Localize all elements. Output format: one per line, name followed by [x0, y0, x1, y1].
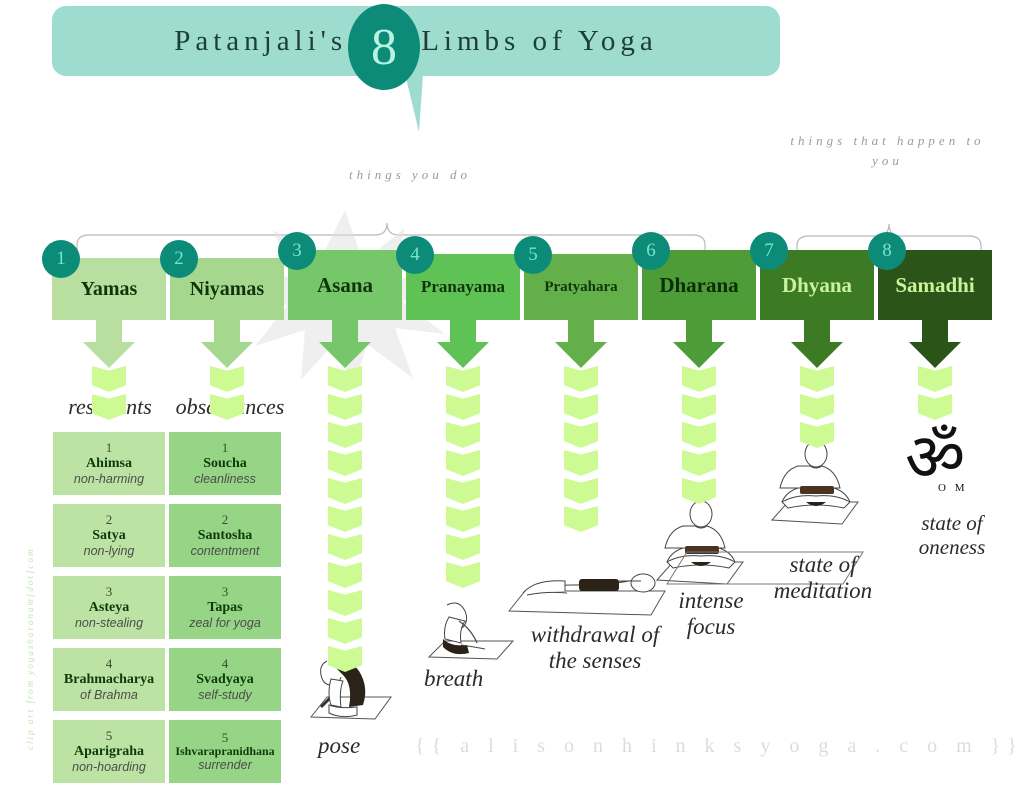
limb-arrow-stem	[332, 320, 358, 342]
sub-card-number: 3	[222, 585, 229, 600]
caption-pranayama: breath	[424, 666, 483, 692]
caption-samadhi: state of oneness	[900, 512, 1004, 559]
sub-card-number: 1	[222, 441, 229, 456]
chevron-segment	[328, 590, 362, 616]
sub-card-description: contentment	[191, 544, 260, 558]
eight-badge: 8	[348, 4, 420, 90]
chevron-segment	[564, 478, 598, 504]
chevron-segment	[210, 366, 244, 392]
limb-number-badge-2: 2	[160, 240, 198, 278]
title-right-text: Limbs of Yoga	[409, 25, 658, 58]
chevron-segment	[682, 450, 716, 476]
sub-card-soucha[interactable]: 1Souchacleanliness	[169, 432, 281, 495]
limb-arrow-stem	[922, 320, 948, 342]
limb-number-badge-4: 4	[396, 236, 434, 274]
infographic-canvas: Patanjali's Limbs of Yoga 8 things you d…	[0, 0, 1035, 800]
limb-number: 7	[764, 240, 774, 262]
chevron-segment	[328, 506, 362, 532]
chevron-segment	[328, 618, 362, 644]
limb-number: 3	[292, 240, 302, 262]
sub-card-asteya[interactable]: 3Asteyanon-stealing	[53, 576, 165, 639]
sub-card-number: 3	[106, 585, 113, 600]
sub-card-number: 4	[222, 657, 229, 672]
sub-card-ahimsa[interactable]: 1Ahimsanon-harming	[53, 432, 165, 495]
sub-card-tapas[interactable]: 3Tapaszeal for yoga	[169, 576, 281, 639]
sub-card-description: self-study	[198, 688, 252, 702]
sub-card-description: cleanliness	[194, 472, 256, 486]
chevron-segment	[682, 366, 716, 392]
chevron-segment	[800, 366, 834, 392]
header-banner-tail	[405, 74, 423, 132]
sub-card-satya[interactable]: 2Satyanon-lying	[53, 504, 165, 567]
limb-arrow-stem	[686, 320, 712, 342]
limb-arrow-head	[909, 342, 961, 368]
sub-card-name: Svadyaya	[196, 672, 254, 688]
om-label: O M	[938, 482, 967, 494]
sub-card-description: of Brahma	[80, 688, 138, 702]
caption-asana: pose	[318, 733, 360, 759]
sub-card-svadyaya[interactable]: 4Svadyayaself-study	[169, 648, 281, 711]
side-watermark: clip art from yogasharanam[dot]com	[25, 570, 35, 750]
sub-card-description: zeal for yoga	[189, 616, 261, 630]
limb-number: 6	[646, 240, 656, 262]
sub-card-name: Tapas	[207, 600, 242, 616]
limb-number-badge-6: 6	[632, 232, 670, 270]
chevron-segment	[564, 366, 598, 392]
sub-card-aparigraha[interactable]: 5Aparigrahanon-hoarding	[53, 720, 165, 783]
bracket-label-right: things that happen to you	[780, 131, 995, 171]
limb-arrow-stem	[214, 320, 240, 342]
chevron-segment	[328, 534, 362, 560]
pranayama-figure-icon	[425, 595, 517, 667]
limb-number: 1	[56, 248, 66, 270]
sub-card-name: Santosha	[198, 528, 252, 544]
sub-card-description: non-hoarding	[72, 760, 146, 774]
sub-card-santosha[interactable]: 2Santoshacontentment	[169, 504, 281, 567]
limb-label: Pranayama	[421, 277, 505, 297]
chevron-segment	[328, 422, 362, 448]
limb-label: Dharana	[659, 273, 738, 298]
limb-label: Asana	[317, 273, 373, 298]
limb-label: Yamas	[81, 278, 138, 301]
eight-badge-number: 8	[371, 18, 397, 77]
chevron-segment	[446, 450, 480, 476]
limb-number-badge-1: 1	[42, 240, 80, 278]
chevron-segment	[800, 394, 834, 420]
sub-card-name: Brahmacharya	[64, 672, 154, 688]
sub-card-name: Asteya	[89, 600, 129, 616]
limb-arrow-head	[555, 342, 607, 368]
limb-number-badge-5: 5	[514, 236, 552, 274]
caption-dharana: intense focus	[668, 588, 754, 640]
chevron-segment	[682, 394, 716, 420]
sub-card-ishvarapranidhana[interactable]: 5Ishvarapranidhanasurrender	[169, 720, 281, 783]
chevron-segment	[328, 394, 362, 420]
chevron-segment	[328, 562, 362, 588]
sub-card-name: Satya	[92, 528, 125, 544]
sub-card-description: non-stealing	[75, 616, 143, 630]
limb-arrow-head	[437, 342, 489, 368]
chevron-segment	[446, 562, 480, 588]
sub-card-number: 2	[106, 513, 113, 528]
limb-arrow-stem	[568, 320, 594, 342]
sub-card-number: 5	[106, 729, 113, 744]
caption-dhyana: state of meditation	[760, 552, 886, 604]
chevron-segment	[446, 422, 480, 448]
limb-label: Pratyahara	[544, 279, 617, 296]
limb-number: 2	[174, 248, 184, 270]
chevron-segment	[328, 450, 362, 476]
sub-card-number: 4	[106, 657, 113, 672]
chevron-segment	[446, 534, 480, 560]
sub-card-number: 1	[106, 441, 113, 456]
limb-arrow-head	[201, 342, 253, 368]
sub-card-brahmacharya[interactable]: 4Brahmacharyaof Brahma	[53, 648, 165, 711]
chevron-segment	[446, 506, 480, 532]
chevron-segment	[328, 478, 362, 504]
caption-pratyahara: withdrawal of the senses	[520, 622, 670, 674]
chevron-segment	[446, 366, 480, 392]
limb-label: Dhyana	[782, 273, 852, 298]
sub-card-description: non-lying	[84, 544, 135, 558]
chevron-segment	[564, 450, 598, 476]
limb-number-badge-8: 8	[868, 232, 906, 270]
limb-arrow-stem	[450, 320, 476, 342]
sub-card-number: 5	[222, 731, 229, 746]
sub-card-name: Ishvarapranidhana	[175, 745, 274, 758]
limb-number-badge-7: 7	[750, 232, 788, 270]
sub-card-description: non-harming	[74, 472, 144, 486]
chevron-segment	[446, 478, 480, 504]
chevron-segment	[918, 366, 952, 392]
chevron-segment	[564, 422, 598, 448]
limb-arrow-head	[791, 342, 843, 368]
chevron-segment	[682, 422, 716, 448]
bracket-label-left: things you do	[265, 165, 555, 185]
footer-watermark: {{ a l i s o n h i n k s y o g a . c o m…	[415, 735, 1024, 758]
limb-arrow-head	[673, 342, 725, 368]
sub-card-name: Ahimsa	[86, 456, 132, 472]
chevron-segment	[564, 394, 598, 420]
sub-card-name: Aparigraha	[74, 744, 144, 760]
limb-arrow-head	[319, 342, 371, 368]
sub-card-description: surrender	[198, 758, 252, 772]
chevron-segment	[918, 394, 952, 420]
dhyana-figure-icon	[770, 440, 862, 530]
limb-label: Samadhi	[895, 273, 974, 298]
limb-arrow-stem	[804, 320, 830, 342]
limb-number: 4	[410, 244, 420, 266]
limb-arrow-head	[83, 342, 135, 368]
pratyahara-figure-icon	[505, 565, 670, 619]
limb-label: Niyamas	[190, 278, 264, 301]
limb-number: 8	[882, 240, 892, 262]
chevron-segment	[564, 506, 598, 532]
sub-card-number: 2	[222, 513, 229, 528]
sub-card-name: Soucha	[203, 456, 247, 472]
chevron-segment	[92, 366, 126, 392]
limb-number: 5	[528, 244, 538, 266]
chevron-segment	[446, 394, 480, 420]
limb-arrow-stem	[96, 320, 122, 342]
limb-number-badge-3: 3	[278, 232, 316, 270]
